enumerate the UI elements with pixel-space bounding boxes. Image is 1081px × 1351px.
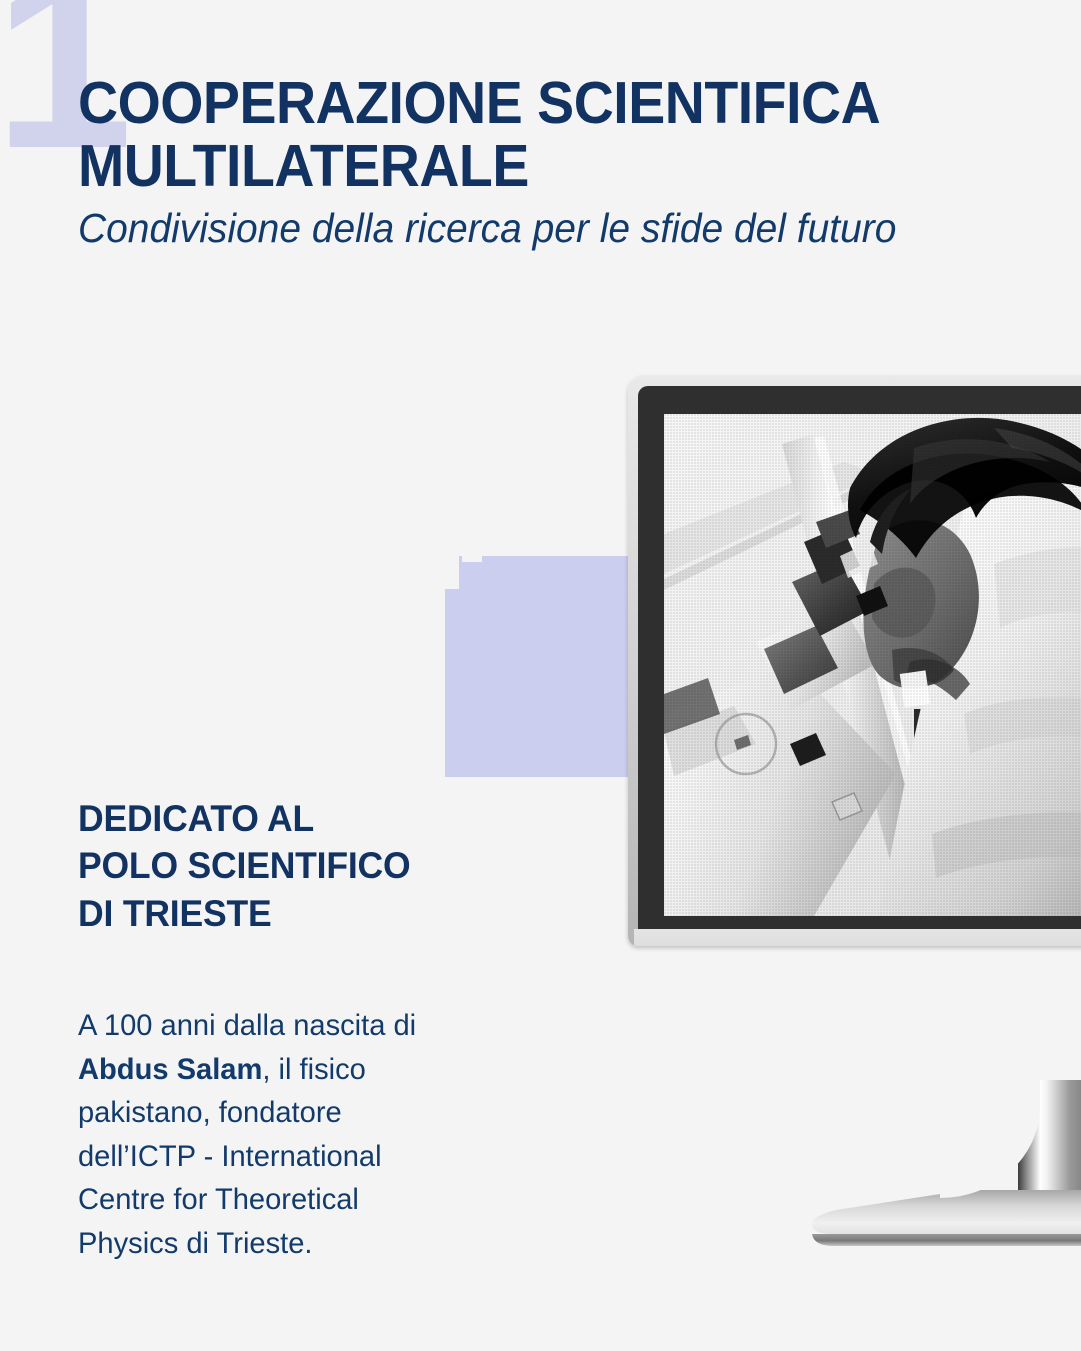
- monitor-screen: [664, 414, 1081, 916]
- lavender-accent-rectangle: [459, 556, 632, 777]
- page-subtitle: Condivisione della ricerca per le sfide …: [78, 205, 971, 252]
- body-prefix: A 100 anni dalla nascita di: [78, 1009, 416, 1042]
- dedication-heading: DEDICATO AL POLO SCIENTIFICO DI TRIESTE: [78, 795, 491, 937]
- monitor-frame: [628, 376, 1081, 946]
- desktop-monitor: [628, 376, 1081, 946]
- body-bold-name: Abdus Salam: [78, 1053, 262, 1086]
- microscope-scientist-photo: [664, 414, 1081, 916]
- monitor-bezel: [638, 386, 1081, 934]
- poster-canvas: 1 COOPERAZIONE SCIENTIFICA MULTILATERALE…: [0, 0, 1081, 1351]
- monitor-stand-base: [806, 1190, 1081, 1252]
- page-title: COOPERAZIONE SCIENTIFICA MULTILATERALE: [78, 72, 962, 197]
- headline-block: COOPERAZIONE SCIENTIFICA MULTILATERALE C…: [78, 72, 1018, 252]
- monitor-chin: [634, 929, 1081, 946]
- dedication-body: A 100 anni dalla nascita di Abdus Salam,…: [78, 1004, 461, 1265]
